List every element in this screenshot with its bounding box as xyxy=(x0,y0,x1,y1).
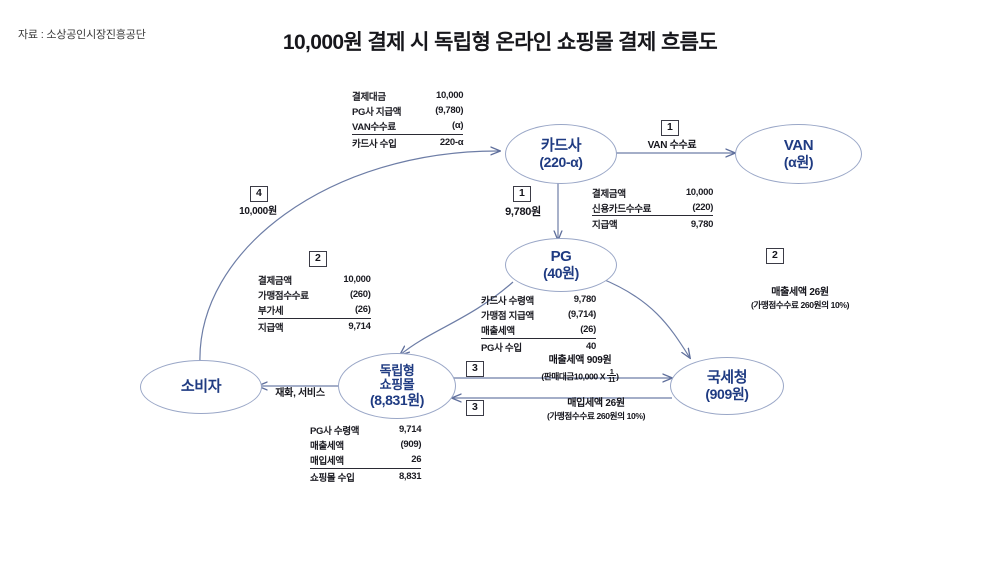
ledger-shop-label-2: 매입세액 xyxy=(310,452,375,468)
ledger-pg-label-3: PG사 수입 xyxy=(481,338,550,354)
node-nts-amount: (909원) xyxy=(705,387,748,403)
ledger-cardpg-value-0: 10,000 xyxy=(667,185,713,200)
ledger-card-value-1: (9,780) xyxy=(417,103,463,118)
ledger-pgshop-label-2: 부가세 xyxy=(258,302,325,318)
flow-connectors xyxy=(0,0,1000,562)
node-nts-label: 국세청 xyxy=(707,370,747,387)
caption-shop-to-nts: 매출세액 909원 (판매대금10,000 X 111) xyxy=(492,355,668,384)
caption-pg-to-nts-main: 매출세액 26원 xyxy=(771,287,829,298)
node-consumer-label: 소비자 xyxy=(181,379,221,396)
ledger-cardpg-label-0: 결제금액 xyxy=(592,185,667,200)
ledger-card-company: 결제대금 10,000 PG사 지급액 (9,780) VAN수수료 (α) 카… xyxy=(352,88,463,150)
caption-shop-to-nts-sub: (판매대금10,000 X 111) xyxy=(492,368,668,385)
ledger-pg-value-1: (9,714) xyxy=(550,307,596,322)
ledger-card-value-3: 220-α xyxy=(417,134,463,150)
badge-pg-to-nts: 2 xyxy=(766,248,784,264)
ledger-card-label-2: VAN수수료 xyxy=(352,118,417,134)
ledger-pg-to-shop: 결제금액 10,000 가맹점수수료 (260) 부가세 (26) 지급액 9,… xyxy=(258,272,371,334)
ledger-cardpg-label-2: 지급액 xyxy=(592,216,667,232)
ledger-pg-value-3: 40 xyxy=(550,338,596,354)
ledger-shop-value-2: 26 xyxy=(375,452,421,468)
caption-nts-to-shop-sub: (가맹점수수료 260원의 10%) xyxy=(496,411,696,422)
badge-pg-to-shop: 2 xyxy=(309,251,327,267)
caption-nts-to-shop: 매입세액 26원 (가맹점수수료 260원의 10%) xyxy=(496,398,696,421)
badge-card-to-van: 1 xyxy=(661,120,679,136)
node-online-shop-label1: 독립형 xyxy=(380,364,415,379)
ledger-shop-label-1: 매출세액 xyxy=(310,437,375,452)
node-pg-label: PG xyxy=(551,249,572,266)
badge-shop-to-nts: 3 xyxy=(466,361,484,377)
diagram-canvas: 자료 : 소상공인시장진흥공단 10,000원 결제 시 독립형 온라인 쇼핑몰… xyxy=(0,0,1000,562)
ledger-pgshop-label-0: 결제금액 xyxy=(258,272,325,287)
badge-nts-to-shop: 3 xyxy=(466,400,484,416)
ledger-pgshop-value-2: (26) xyxy=(325,302,371,318)
caption-shop-to-nts-sub-post: ) xyxy=(616,371,618,381)
ledger-card-label-0: 결제대금 xyxy=(352,88,417,103)
node-consumer[interactable]: 소비자 xyxy=(140,360,262,414)
caption-shop-to-nts-main: 매출세액 909원 xyxy=(549,355,612,366)
ledger-card-label-1: PG사 지급액 xyxy=(352,103,417,118)
ledger-pg-value-2: (26) xyxy=(550,322,596,338)
node-card-company[interactable]: 카드사 (220-α) xyxy=(505,124,617,184)
badge-consumer-to-card: 4 xyxy=(250,186,268,202)
ledger-cardpg-label-1: 신용카드수수료 xyxy=(592,200,667,216)
ledger-shop-label-3: 쇼핑몰 수입 xyxy=(310,468,375,484)
caption-pg-to-nts: 매출세액 26원 (가맹점수수료 260원의 10%) xyxy=(700,287,900,310)
node-pg-amount: (40원) xyxy=(543,266,579,282)
ledger-pgshop-value-1: (260) xyxy=(325,287,371,302)
node-online-shop-amount: (8,831원) xyxy=(370,393,424,409)
ledger-card-value-2: (α) xyxy=(417,118,463,134)
ledger-shop-value-1: (909) xyxy=(375,437,421,452)
ledger-pgshop-label-3: 지급액 xyxy=(258,318,325,334)
node-online-shop-label2: 쇼핑몰 xyxy=(380,378,415,393)
ledger-card-value-0: 10,000 xyxy=(417,88,463,103)
ledger-pg: 카드사 수령액 9,780 가맹점 지급액 (9,714) 매출세액 (26) … xyxy=(481,292,596,354)
node-van-label: VAN xyxy=(784,138,813,155)
ledger-card-label-3: 카드사 수입 xyxy=(352,134,417,150)
node-online-shop[interactable]: 독립형 쇼핑몰 (8,831원) xyxy=(338,353,456,419)
ledger-pg-label-0: 카드사 수령액 xyxy=(481,292,550,307)
ledger-pgshop-label-1: 가맹점수수료 xyxy=(258,287,325,302)
node-card-company-amount: (220-α) xyxy=(539,155,582,171)
fraction-denominator: 11 xyxy=(607,376,616,384)
wire-pg-to-nts xyxy=(600,278,690,358)
ledger-pg-label-2: 매출세액 xyxy=(481,322,550,338)
ledger-pgshop-value-0: 10,000 xyxy=(325,272,371,287)
node-van[interactable]: VAN (α원) xyxy=(735,124,862,184)
caption-nts-to-shop-main: 매입세액 26원 xyxy=(567,398,625,409)
node-pg[interactable]: PG (40원) xyxy=(505,238,617,292)
ledger-shop-value-0: 9,714 xyxy=(375,422,421,437)
fraction-one-eleventh: 111 xyxy=(607,368,616,385)
caption-shop-to-nts-sub-pre: (판매대금10,000 X xyxy=(541,371,607,381)
ledger-shop: PG사 수령액 9,714 매출세액 (909) 매입세액 26 쇼핑몰 수입 … xyxy=(310,422,421,484)
caption-card-to-pg: 9,780원 xyxy=(492,206,554,220)
caption-pg-to-nts-sub: (가맹점수수료 260원의 10%) xyxy=(700,300,900,311)
ledger-card-to-pg: 결제금액 10,000 신용카드수수료 (220) 지급액 9,780 xyxy=(592,185,713,232)
caption-consumer-to-card: 10,000원 xyxy=(222,206,294,219)
ledger-pgshop-value-3: 9,714 xyxy=(325,318,371,334)
ledger-cardpg-value-2: 9,780 xyxy=(667,216,713,232)
ledger-pg-label-1: 가맹점 지급액 xyxy=(481,307,550,322)
caption-card-to-van: VAN 수수료 xyxy=(622,140,722,153)
ledger-shop-label-0: PG사 수령액 xyxy=(310,422,375,437)
node-van-amount: (α원) xyxy=(784,155,813,171)
badge-card-to-pg: 1 xyxy=(513,186,531,202)
caption-shop-to-consumer: 재화, 서비스 xyxy=(252,388,348,401)
ledger-cardpg-value-1: (220) xyxy=(667,200,713,216)
ledger-pg-value-0: 9,780 xyxy=(550,292,596,307)
node-card-company-label: 카드사 xyxy=(541,138,581,155)
ledger-shop-value-3: 8,831 xyxy=(375,468,421,484)
